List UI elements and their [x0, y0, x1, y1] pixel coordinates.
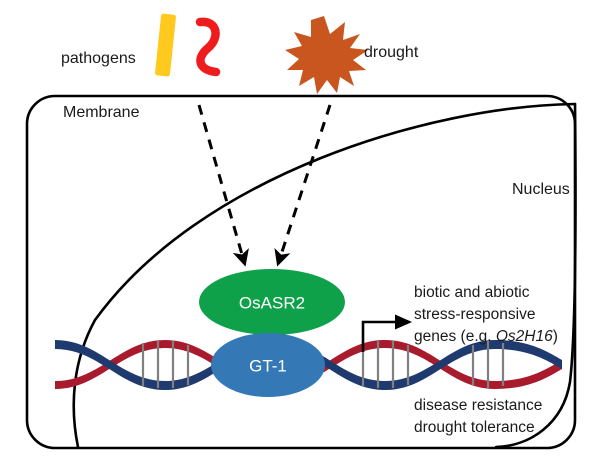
- nucleus-outline-right: [496, 104, 575, 447]
- pathway-diagram-figure: OsASR2 GT-1 pathogens drought Membrane N…: [0, 0, 600, 466]
- gene-line-prefix: genes (e.g.: [414, 328, 496, 345]
- label-outcome-line2: drought tolerance: [414, 419, 535, 436]
- gene-line-suffix: ): [553, 328, 558, 345]
- bacterium-rod-icon: [155, 13, 176, 76]
- label-drought: drought: [364, 44, 419, 61]
- label-target-genes-line1: biotic and abiotic: [414, 284, 530, 301]
- dashed-signal-arrow-drought: [280, 105, 330, 258]
- label-nucleus: Nucleus: [512, 181, 570, 198]
- nucleus-outline-left: [74, 104, 575, 447]
- protein-label-osasr2: OsASR2: [239, 294, 305, 313]
- label-membrane: Membrane: [63, 104, 140, 121]
- label-outcome-line1: disease resistance: [414, 397, 542, 414]
- label-target-genes-line3: genes (e.g. Os2H16): [414, 328, 558, 345]
- protein-label-gt1: GT-1: [249, 357, 287, 376]
- diagram-canvas: OsASR2 GT-1 pathogens drought Membrane N…: [0, 0, 600, 466]
- dashed-signal-arrow-pathogens: [199, 105, 243, 258]
- label-target-genes-line2: stress-responsive: [414, 306, 535, 323]
- drought-sunburst-icon: [285, 16, 368, 94]
- label-pathogens: pathogens: [61, 50, 136, 67]
- virus-squiggle-icon: [200, 22, 216, 72]
- gene-name-os2h16: Os2H16: [496, 328, 553, 345]
